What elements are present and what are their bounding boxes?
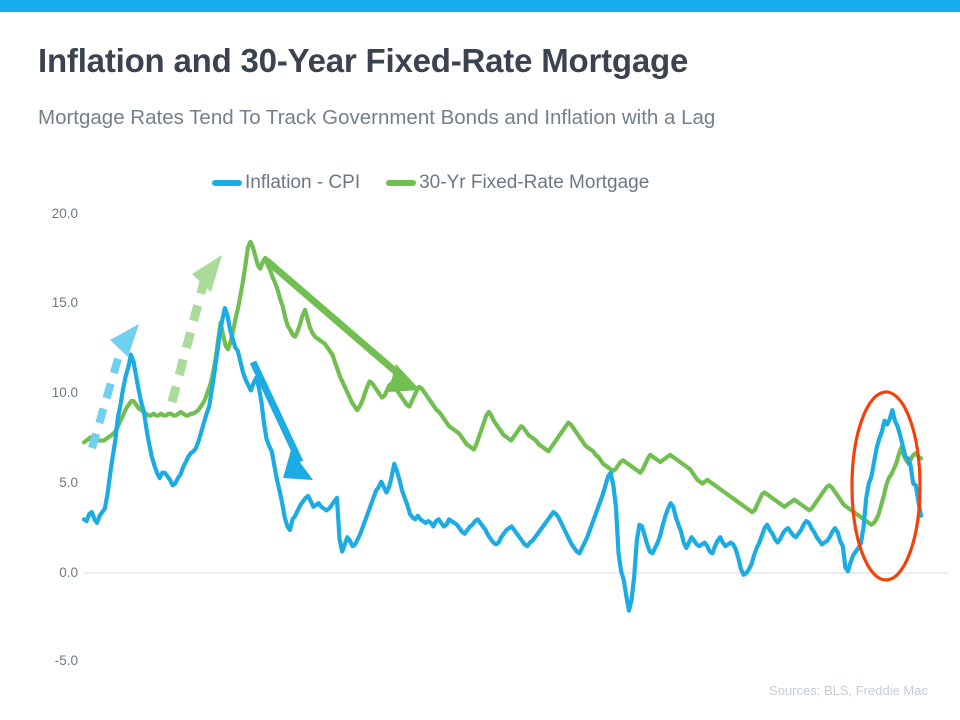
chart-plot-area	[0, 0, 960, 720]
source-note: Sources: BLS, Freddie Mac	[769, 683, 928, 698]
series-line-inflation	[84, 308, 921, 611]
